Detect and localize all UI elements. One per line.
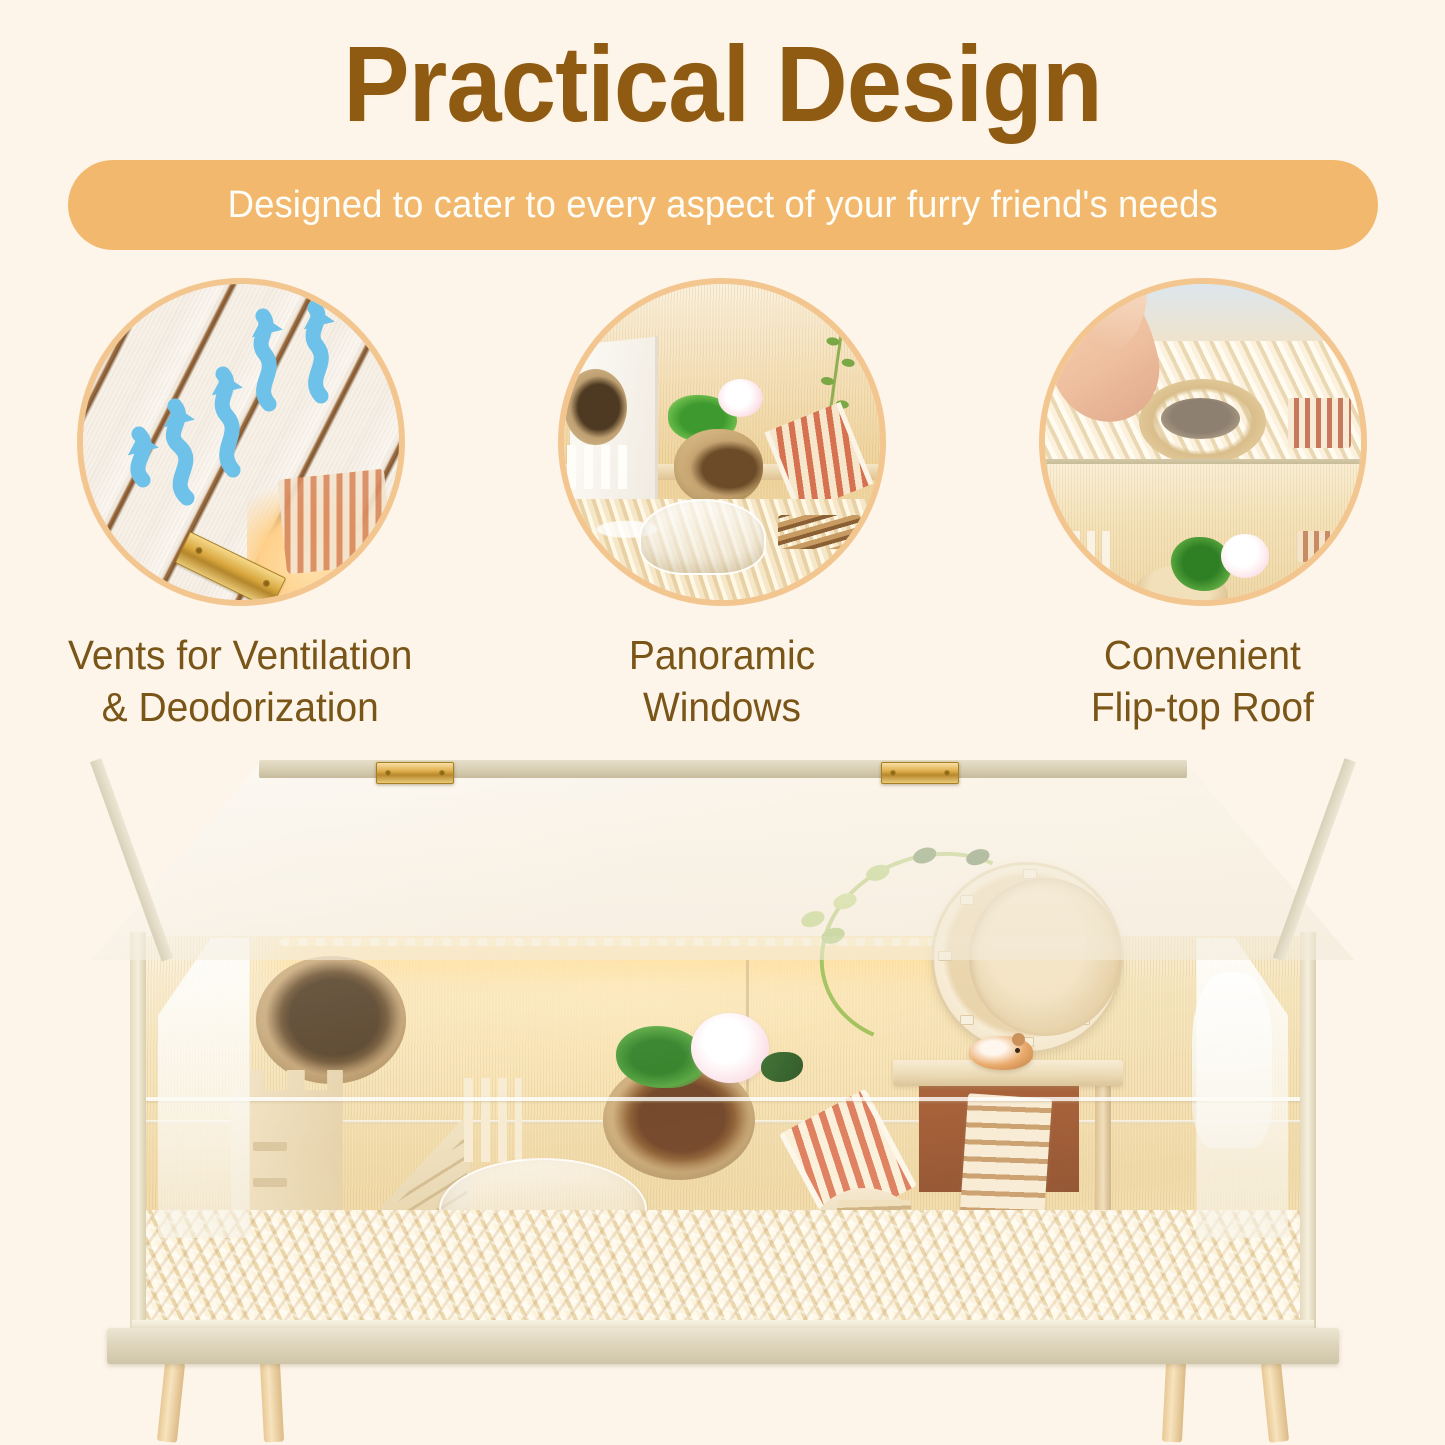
cage-leg [1162, 1362, 1186, 1443]
wood-shaving-bedding [145, 1210, 1301, 1328]
cage-leg [157, 1361, 185, 1443]
vent-slats-image [83, 284, 399, 600]
product-hero-photo [0, 752, 1445, 1445]
subtitle-text: Designed to cater to every aspect of you… [228, 184, 1218, 227]
hamster-on-platform [969, 1036, 1033, 1070]
feature-panoramic-windows: Panoramic Windows [481, 278, 962, 738]
wooden-picket-fence [464, 1078, 522, 1162]
left-corner-post [130, 932, 146, 1342]
woven-straw-nest [256, 956, 406, 1084]
cage-interior-image [564, 284, 880, 600]
acrylic-roof-glass [92, 760, 1354, 960]
chew-sticks [778, 515, 860, 550]
feature-label-ventilation: Vents for Ventilation & Deodorization [68, 630, 412, 733]
airflow-arrows-icon [83, 284, 399, 600]
cage-leg [1260, 1361, 1288, 1443]
clear-sand-bath-dome [639, 499, 765, 575]
page-title: Practical Design [58, 26, 1387, 143]
woven-nest [564, 369, 627, 445]
artificial-rose [718, 379, 762, 417]
feature-row: Vents for Ventilation & Deodorization [0, 278, 1445, 738]
cage-leg [260, 1362, 284, 1443]
feature-ventilation: Vents for Ventilation & Deodorization [0, 278, 481, 738]
artificial-rose [1221, 534, 1268, 578]
feature-label-flip-top-roof: Convenient Flip-top Roof [1091, 630, 1314, 733]
roof-hinge-right-icon [881, 762, 959, 784]
wood-ladder-strip [1297, 531, 1348, 563]
flip-top-roof-photo-circle [1039, 278, 1367, 606]
right-corner-post [1300, 932, 1316, 1342]
nest-opening [1161, 398, 1240, 439]
glass-divider-rail [135, 1097, 1311, 1101]
panoramic-windows-photo-circle [558, 278, 886, 606]
hamster-cage [92, 760, 1354, 1368]
ventilation-photo-circle [77, 278, 405, 606]
cage-base-frame [107, 1328, 1339, 1364]
hand-lifting-roof-image [1045, 284, 1361, 600]
feature-label-panoramic-windows: Panoramic Windows [628, 630, 814, 733]
platform-support-leg [1095, 1086, 1111, 1214]
feature-flip-top-roof: Convenient Flip-top Roof [962, 278, 1443, 738]
roof-hinge-left-icon [376, 762, 454, 784]
subtitle-banner: Designed to cater to every aspect of you… [68, 160, 1378, 250]
white-picket-fence [1057, 531, 1117, 588]
red-ladder-accessory [1288, 398, 1351, 449]
artificial-pink-rose [691, 1013, 769, 1083]
white-picket-fence [567, 445, 630, 489]
woven-straw-tunnel [674, 429, 762, 505]
